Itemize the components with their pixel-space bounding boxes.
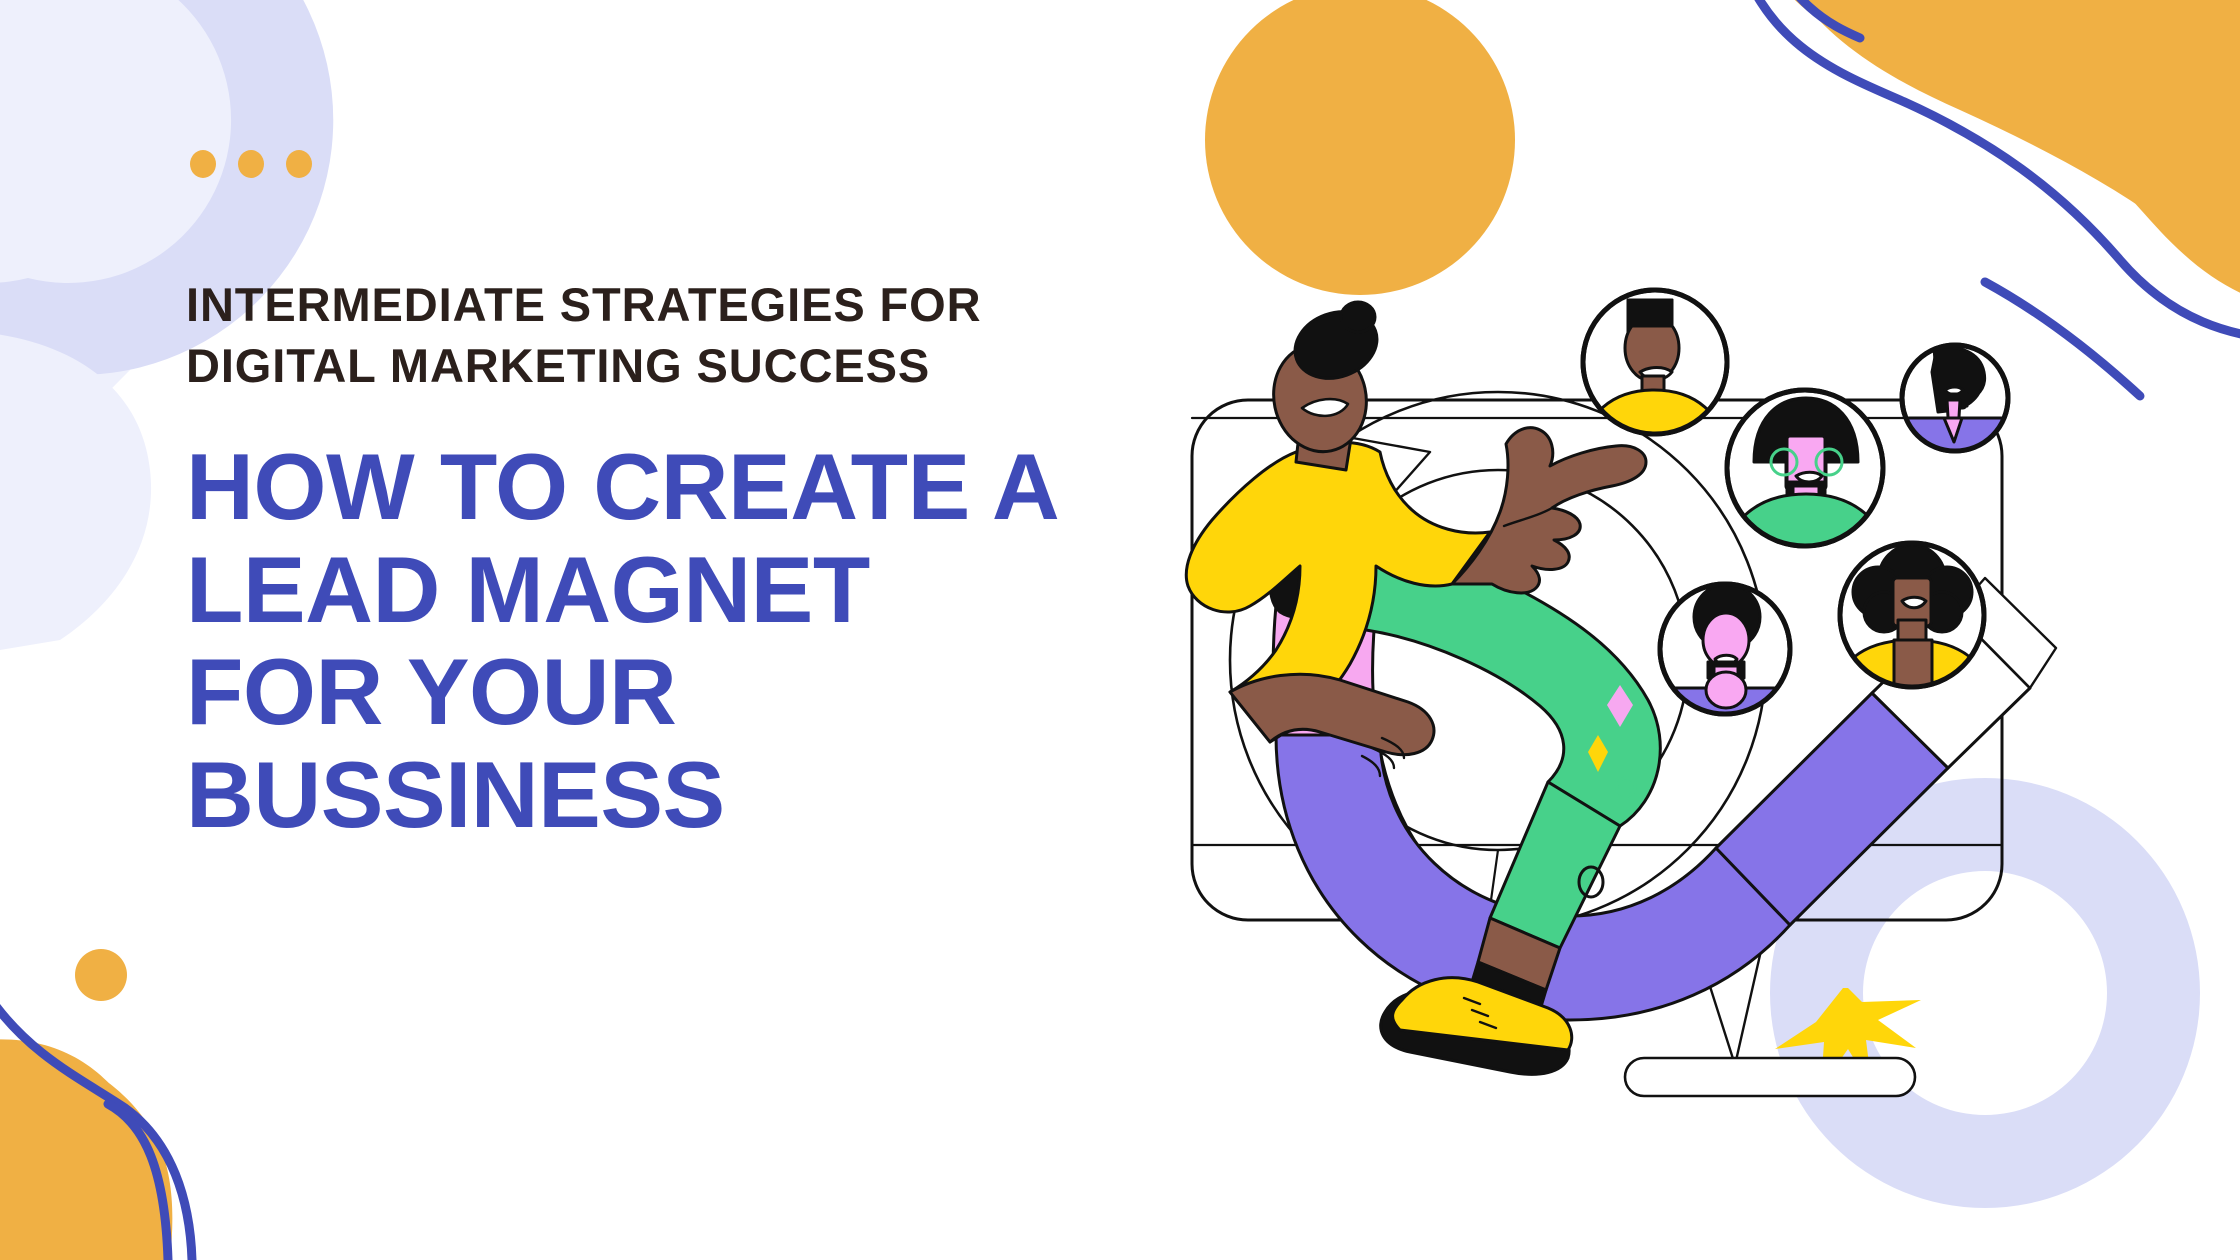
pedestal-base xyxy=(1625,1058,1915,1096)
orange-dot-bullet xyxy=(75,949,127,1001)
dot-icon xyxy=(286,150,312,178)
avatar-hair-cap xyxy=(1754,398,1858,462)
magnet-tip-left-face xyxy=(1296,435,1430,495)
character-left-forearm xyxy=(1230,674,1434,754)
avatar-shirt xyxy=(1720,494,1892,570)
avatar-neck xyxy=(1642,376,1664,398)
blue-wave-top-right-3 xyxy=(1758,0,1860,38)
avatar-smile xyxy=(1902,597,1926,608)
avatar-smile xyxy=(1640,368,1672,380)
avatar-neck xyxy=(1898,620,1926,652)
blue-wave-bottom-left xyxy=(0,998,192,1260)
orange-blob-top-right-body xyxy=(1742,0,2240,312)
yellow-diamond-sparkle xyxy=(1588,735,1608,772)
pedestal-leg xyxy=(1700,955,1760,1065)
avatar-neck xyxy=(1714,666,1738,702)
character-head xyxy=(1264,336,1376,461)
avatar-shirt-body xyxy=(1578,390,1730,460)
field-circle-outer xyxy=(1230,392,1766,928)
poster-text-block: INTERMEDIATE STRATEGIES FOR DIGITAL MARK… xyxy=(186,150,1106,846)
avatar-hair-sweep xyxy=(1934,347,1985,404)
avatar-hair-c5 xyxy=(1922,592,1962,632)
dot-icon xyxy=(238,150,264,178)
lavender-ring-bottom-right xyxy=(1770,778,2200,1208)
avatar-face xyxy=(1625,315,1679,381)
orange-blob-top-right xyxy=(1760,0,2240,330)
avatar-chin xyxy=(1708,662,1744,678)
avatar-hair-c4 xyxy=(1864,592,1904,632)
avatar-yellow-shirt xyxy=(1578,290,1730,460)
avatar-neck xyxy=(1947,400,1960,434)
avatar-hair xyxy=(1756,400,1856,460)
character-shoe-laces xyxy=(1464,998,1496,1028)
avatar-shirt xyxy=(1583,394,1726,452)
orange-blob-bottom-left-2 xyxy=(0,1039,164,1260)
pink-diamond-sparkle xyxy=(1607,685,1633,727)
field-tick-line xyxy=(1475,850,1498,1015)
blue-wave-top-right xyxy=(1735,0,2240,340)
decorative-dots-row xyxy=(190,150,1106,178)
avatar-glasses-right xyxy=(1816,449,1842,475)
avatar-face xyxy=(1893,578,1931,626)
character-jacket xyxy=(1186,442,1490,742)
avatar-yellow-curly xyxy=(1828,543,1996,713)
character-inner-shirt xyxy=(1270,458,1381,618)
avatar-face xyxy=(1703,613,1749,667)
avatar-hair-top xyxy=(1628,300,1672,326)
field-circle-inner xyxy=(1308,470,1688,850)
avatar-smile xyxy=(1945,387,1963,395)
poster-canvas: INTERMEDIATE STRATEGIES FOR DIGITAL MARK… xyxy=(0,0,2240,1260)
avatar-purple-bottom xyxy=(1655,584,1795,740)
lavender-pale-lower-left xyxy=(0,330,151,660)
frame-rounded-rect xyxy=(1192,400,2002,920)
character-right-arm xyxy=(1452,428,1646,593)
magnet-bottom-curve xyxy=(1276,735,1790,1020)
character-left-hand-fingers xyxy=(1362,738,1404,776)
avatar-face-front xyxy=(1787,436,1825,490)
character-ankle xyxy=(1478,918,1560,990)
dot-icon xyxy=(190,150,216,178)
avatar-collar xyxy=(1944,418,1962,442)
avatar-green-shirt xyxy=(1720,390,1892,570)
character-right-hand-detail xyxy=(1504,508,1552,526)
avatar-chin xyxy=(1941,394,1967,406)
orange-circle-top xyxy=(1205,0,1515,295)
avatar-hair xyxy=(1932,351,1983,412)
magnet-right-arm xyxy=(1716,693,1948,925)
avatar-smile xyxy=(1796,472,1822,482)
character-smile xyxy=(1302,399,1348,416)
avatar-neck xyxy=(1793,486,1819,512)
avatar-face xyxy=(1940,378,1966,408)
yellow-star-burst xyxy=(1775,988,1921,1088)
character-shoe xyxy=(1393,978,1572,1050)
magnet-tip-left xyxy=(1276,478,1392,618)
avatar-purple-small xyxy=(1896,345,2016,484)
avatar-chest xyxy=(1894,640,1932,692)
character-pants xyxy=(1330,551,1660,826)
orange-blob-bottom-left xyxy=(0,1051,172,1260)
avatar-shirt xyxy=(1655,688,1795,740)
magnet-tip-right-face xyxy=(1955,578,2056,688)
poster-headline: HOW TO CREATE A LEAD MAGNET FOR YOUR BUS… xyxy=(186,436,1066,846)
avatar-shirt-neck xyxy=(1706,672,1746,708)
avatar-shirt xyxy=(1828,640,1996,710)
avatar-shirt xyxy=(1896,418,2016,484)
character-hair-bun xyxy=(1286,301,1387,390)
character-shoe-sole xyxy=(1381,990,1569,1074)
avatar-face xyxy=(1786,432,1826,490)
character-lower-leg xyxy=(1490,782,1620,948)
avatar-smile xyxy=(1715,655,1737,666)
blue-wave-bottom-left-2 xyxy=(108,1104,168,1260)
avatar-hair-c3 xyxy=(1922,567,1972,617)
avatar-hair-c1 xyxy=(1879,545,1945,611)
avatar-hair xyxy=(1694,584,1760,650)
magnet-tip-right xyxy=(1872,612,2030,768)
avatar-glasses-left xyxy=(1771,449,1797,475)
poster-eyebrow: INTERMEDIATE STRATEGIES FOR DIGITAL MARK… xyxy=(186,274,1066,396)
avatar-chin xyxy=(1787,482,1825,500)
green-circle-outline-sparkle xyxy=(1617,778,1635,796)
avatar-arm-curve xyxy=(1880,690,1912,713)
character-hair-knot xyxy=(1341,302,1375,332)
avatar-hair xyxy=(1628,300,1672,362)
black-circle-outline-sparkle xyxy=(1579,867,1603,897)
character-neck xyxy=(1296,424,1352,470)
character-sock xyxy=(1466,962,1546,1030)
avatar-hair-c2 xyxy=(1853,567,1903,617)
magnet-left-arm xyxy=(1273,605,1460,968)
blue-wave-top-right-2 xyxy=(1985,282,2140,396)
